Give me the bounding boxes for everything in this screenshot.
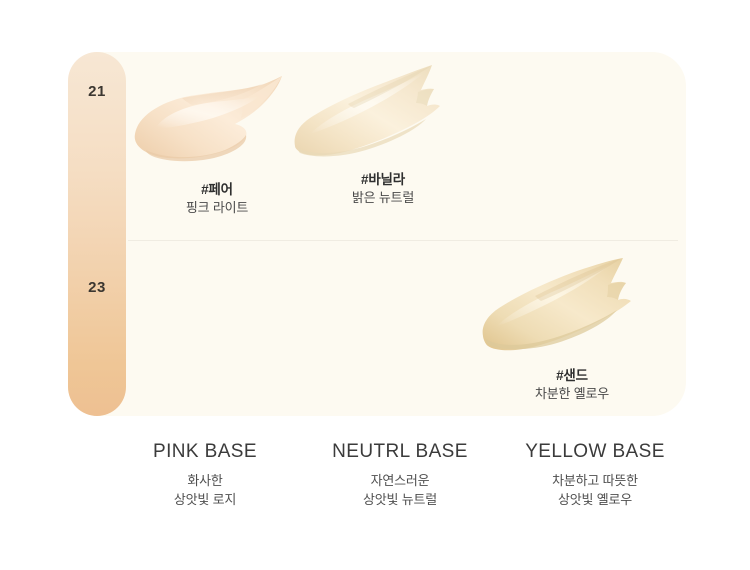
base-subtitle-pink-line2: 상앗빛 로지: [110, 490, 300, 510]
base-title-neutral: NEUTRL BASE: [305, 440, 495, 464]
base-column-yellow[interactable]: YELLOW BASE 차분하고 따뜻한 상앗빛 옐로우: [500, 440, 690, 510]
swatch-smear-pear: [122, 72, 312, 177]
base-subtitle-neutral: 자연스러운 상앗빛 뉴트럴: [305, 471, 495, 510]
base-column-neutral[interactable]: NEUTRL BASE 자연스러운 상앗빛 뉴트럴: [305, 440, 495, 510]
base-subtitle-yellow-line2: 상앗빛 옐로우: [500, 490, 690, 510]
shade-number-23: 23: [68, 279, 126, 296]
base-title-pink: PINK BASE: [110, 440, 300, 464]
base-subtitle-pink: 화사한 상앗빛 로지: [110, 471, 300, 510]
swatch-smear-sand: [477, 258, 667, 363]
shade-number-rail: 21 23: [68, 52, 126, 416]
base-subtitle-yellow: 차분하고 따뜻한 상앗빛 옐로우: [500, 471, 690, 510]
swatch-name-sand: #샌드: [477, 367, 667, 385]
swatch-cell-vanilla[interactable]: #바닐라 밝은 뉴트럴: [288, 62, 478, 207]
base-subtitle-neutral-line2: 상앗빛 뉴트럴: [305, 490, 495, 510]
base-subtitle-pink-line1: 화사한: [110, 471, 300, 491]
swatch-name-pear: #페어: [122, 181, 312, 199]
base-subtitle-neutral-line1: 자연스러운: [305, 471, 495, 491]
base-column-pink[interactable]: PINK BASE 화사한 상앗빛 로지: [110, 440, 300, 510]
base-subtitle-yellow-line1: 차분하고 따뜻한: [500, 471, 690, 491]
swatch-desc-vanilla: 밝은 뉴트럴: [288, 189, 478, 207]
swatch-desc-sand: 차분한 옐로우: [477, 385, 667, 403]
swatch-cell-sand[interactable]: #샌드 차분한 옐로우: [477, 258, 667, 403]
shade-number-21: 21: [68, 83, 126, 100]
base-category-row: PINK BASE 화사한 상앗빛 로지 NEUTRL BASE 자연스러운 상…: [110, 440, 690, 510]
shade-chart-page: { "panel": { "background_color": "#fdfaf…: [0, 0, 750, 570]
swatch-name-vanilla: #바닐라: [288, 171, 478, 189]
row-divider: [128, 240, 678, 241]
base-title-yellow: YELLOW BASE: [500, 440, 690, 464]
swatch-smear-vanilla: [288, 62, 478, 167]
swatch-desc-pear: 핑크 라이트: [122, 199, 312, 217]
swatch-cell-pear[interactable]: #페어 핑크 라이트: [122, 72, 312, 217]
